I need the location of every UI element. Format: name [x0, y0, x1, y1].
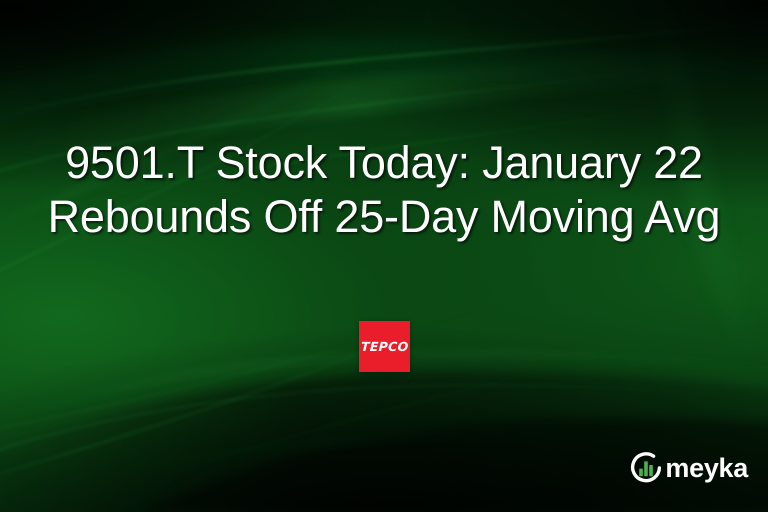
page-title: 9501.T Stock Today: January 22 Rebounds … — [0, 136, 768, 244]
brand-logo: meyka — [628, 450, 748, 486]
banner: 9501.T Stock Today: January 22 Rebounds … — [0, 0, 768, 512]
circle-bar-chart-icon — [628, 450, 664, 486]
background-wave-streaks — [0, 0, 768, 512]
company-logo: TEPCO — [359, 321, 410, 372]
brand-name-label: meyka — [665, 455, 748, 482]
company-logo-label: TEPCO — [360, 339, 408, 354]
